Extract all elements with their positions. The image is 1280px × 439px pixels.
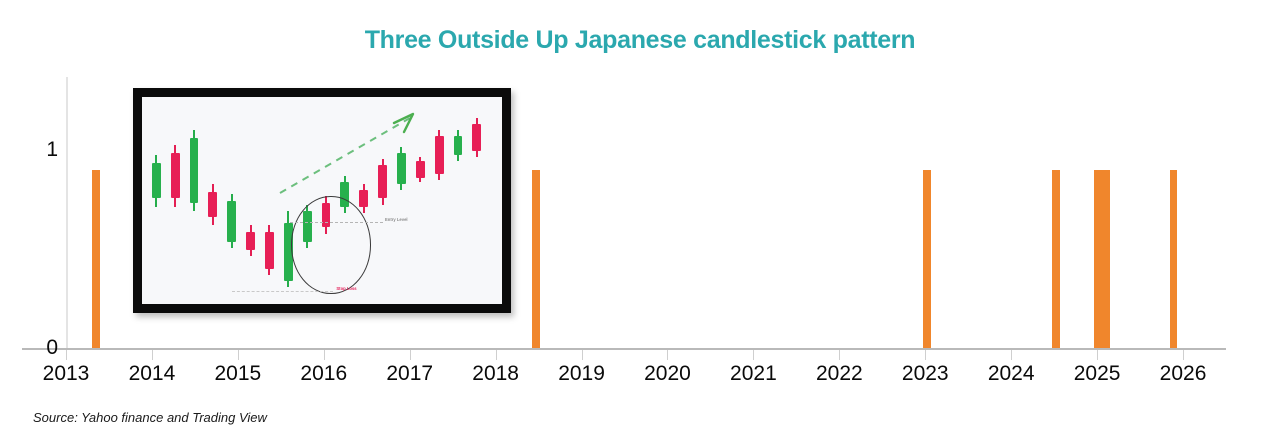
- candlestick-down: [208, 97, 217, 304]
- candle-body: [378, 165, 387, 198]
- candlestick-up: [454, 97, 463, 304]
- x-tick-label: 2026: [1138, 362, 1228, 386]
- candlestick-down: [171, 97, 180, 304]
- page-title: Three Outside Up Japanese candlestick pa…: [0, 26, 1280, 55]
- x-tick-label: 2020: [622, 362, 712, 386]
- bar: [1094, 170, 1110, 348]
- bar: [923, 170, 931, 348]
- x-tick-mark: [925, 350, 926, 360]
- candlestick-down: [472, 97, 481, 304]
- candle-body: [454, 136, 463, 155]
- bar: [532, 170, 540, 348]
- candle-body: [397, 153, 406, 184]
- x-tick-mark: [1183, 350, 1184, 360]
- x-tick-mark: [753, 350, 754, 360]
- x-tick-mark: [410, 350, 411, 360]
- bar: [92, 170, 100, 348]
- candle-body: [472, 124, 481, 151]
- x-tick-label: 2025: [1052, 362, 1142, 386]
- x-tick-mark: [839, 350, 840, 360]
- entry-level-line: [290, 222, 384, 223]
- candlestick-down: [378, 97, 387, 304]
- candlestick-up: [152, 97, 161, 304]
- candlestick-up: [284, 97, 293, 304]
- stop-loss-line: [232, 291, 333, 292]
- candlestick-up: [227, 97, 236, 304]
- candle-body: [435, 136, 444, 173]
- stop-loss-label: Stop Loss: [336, 286, 356, 291]
- x-tick-label: 2021: [708, 362, 798, 386]
- candle-body: [265, 232, 274, 269]
- x-tick-label: 2013: [21, 362, 111, 386]
- candlestick-down: [246, 97, 255, 304]
- chart-figure: Three Outside Up Japanese candlestick pa…: [0, 0, 1280, 439]
- x-tick-mark: [496, 350, 497, 360]
- candlestick-down: [416, 97, 425, 304]
- candle-body: [359, 190, 368, 207]
- x-tick-mark: [324, 350, 325, 360]
- x-tick-label: 2015: [193, 362, 283, 386]
- candlestick-up: [190, 97, 199, 304]
- candle-body: [171, 153, 180, 199]
- x-tick-mark: [1011, 350, 1012, 360]
- candlestick-illustration: Entry Level Stop Loss: [142, 97, 502, 304]
- entry-level-label: Entry Level: [385, 217, 408, 222]
- x-tick-label: 2024: [966, 362, 1056, 386]
- source-note: Source: Yahoo finance and Trading View: [33, 410, 267, 425]
- bar: [1170, 170, 1178, 348]
- candle-body: [208, 192, 217, 217]
- x-tick-label: 2014: [107, 362, 197, 386]
- candle-body: [190, 138, 199, 202]
- x-tick-label: 2018: [451, 362, 541, 386]
- x-tick-mark: [152, 350, 153, 360]
- x-tick-mark: [238, 350, 239, 360]
- candlestick-down: [435, 97, 444, 304]
- x-tick-label: 2019: [537, 362, 627, 386]
- candle-body: [227, 201, 236, 242]
- candlestick-illustration-frame: Entry Level Stop Loss: [133, 88, 511, 313]
- x-tick-label: 2017: [365, 362, 455, 386]
- x-tick-mark: [667, 350, 668, 360]
- x-tick-mark: [1097, 350, 1098, 360]
- bar: [1052, 170, 1060, 348]
- x-tick-mark: [582, 350, 583, 360]
- x-tick-label: 2023: [880, 362, 970, 386]
- x-tick-label: 2016: [279, 362, 369, 386]
- x-tick-label: 2022: [794, 362, 884, 386]
- candle-body: [246, 232, 255, 251]
- candle-body: [416, 161, 425, 178]
- x-tick-mark: [66, 350, 67, 360]
- x-axis-line: [22, 348, 1226, 350]
- pattern-highlight-circle: [291, 196, 370, 293]
- candle-body: [152, 163, 161, 198]
- candlestick-down: [265, 97, 274, 304]
- candlestick-up: [397, 97, 406, 304]
